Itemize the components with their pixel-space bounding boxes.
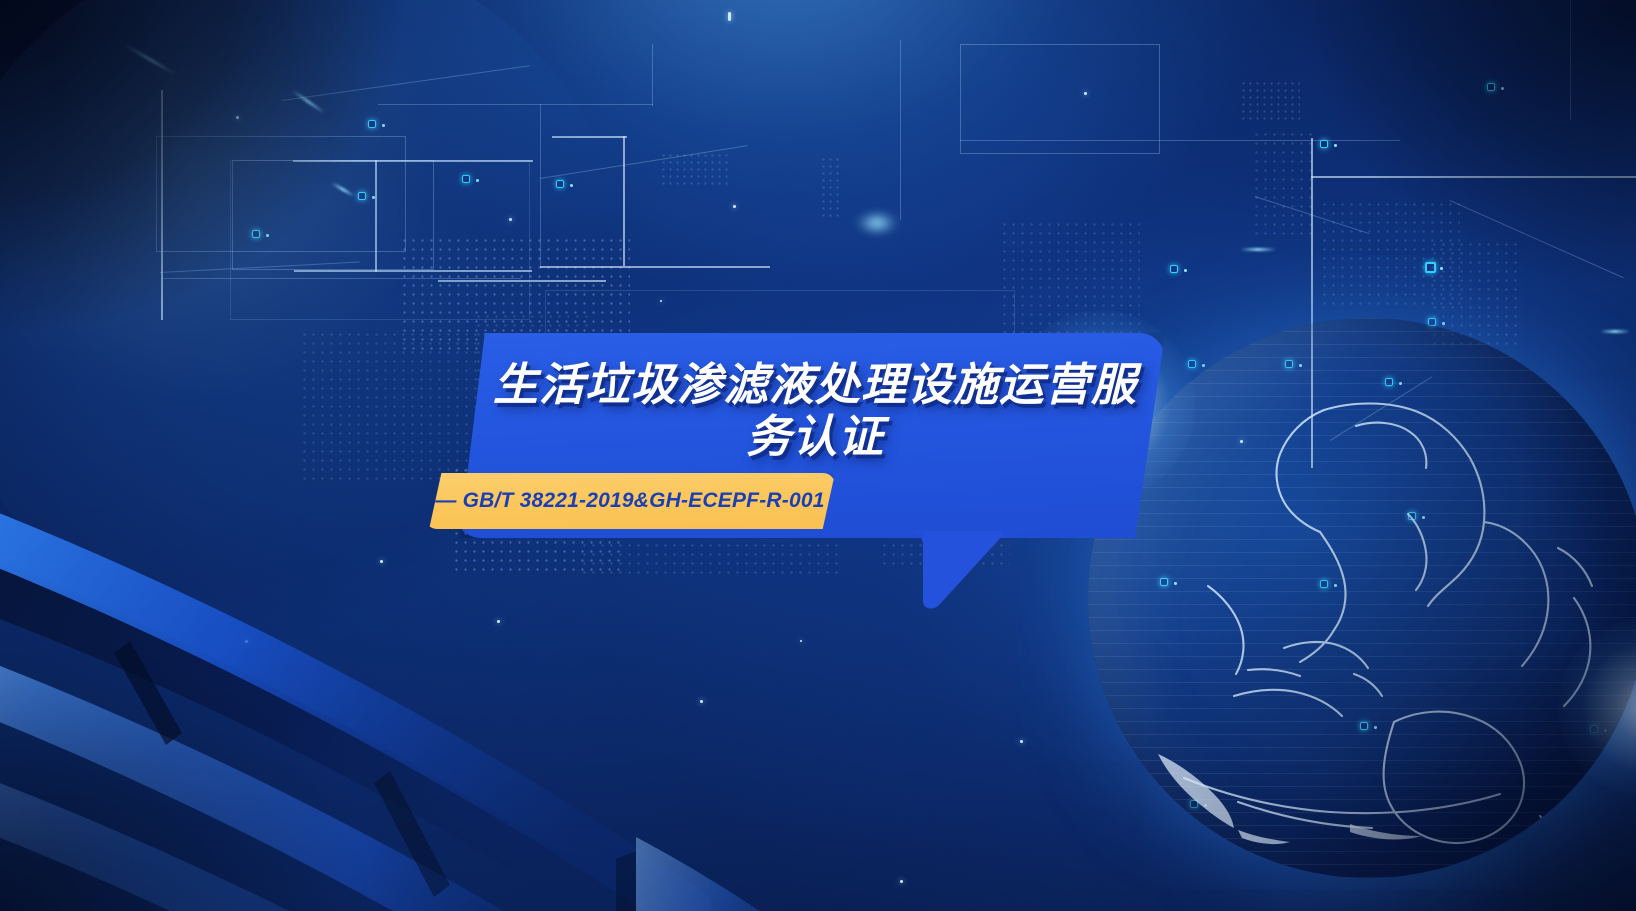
light-spark	[728, 12, 731, 21]
node-marker-icon	[1425, 262, 1436, 273]
wireframe-line	[960, 140, 1400, 141]
light-spark	[497, 620, 500, 623]
wireframe-line	[1570, 0, 1571, 120]
subtitle-text: — GB/T 38221-2019&GH-ECEPF-R-001	[425, 473, 835, 529]
ribbon-band	[0, 591, 720, 911]
light-spark	[700, 700, 703, 703]
wireframe-rect	[960, 44, 1160, 154]
light-spark	[1020, 740, 1023, 743]
node-marker-icon	[556, 180, 564, 188]
wireframe-line	[652, 44, 653, 106]
light-spark	[236, 116, 239, 119]
wireframe-line	[282, 65, 530, 101]
dot-matrix	[1252, 130, 1312, 240]
light-streak	[123, 43, 176, 76]
light-spark	[1084, 92, 1087, 95]
node-marker-icon	[368, 120, 376, 128]
node-marker-icon	[252, 230, 260, 238]
node-marker-icon	[358, 192, 366, 200]
light-spark	[245, 640, 248, 643]
ribbon-facet	[114, 641, 182, 745]
node-marker-icon	[462, 175, 470, 183]
ribbon-facet	[616, 851, 636, 911]
node-marker-icon	[1487, 83, 1495, 91]
light-spark	[900, 880, 903, 883]
light-spark	[380, 560, 383, 563]
light-streak	[856, 216, 898, 230]
light-streak	[291, 89, 325, 114]
wireframe-line	[378, 104, 653, 105]
light-spark	[660, 300, 662, 302]
wireframe-line	[900, 40, 901, 220]
callout-tail	[883, 531, 1013, 609]
wireframe-line	[293, 160, 533, 162]
title-callout: 生活垃圾渗滤液处理设施运营服 务认证 — GB/T 38221-2019&GH-…	[455, 333, 1175, 583]
light-streak	[1240, 248, 1276, 251]
dot-matrix	[660, 152, 728, 186]
light-spark	[733, 205, 736, 208]
node-marker-icon	[1320, 140, 1328, 148]
wireframe-line	[1311, 176, 1636, 178]
wireframe-line	[552, 136, 627, 138]
subtitle-banner: — GB/T 38221-2019&GH-ECEPF-R-001	[425, 473, 835, 529]
page-title: 生活垃圾渗滤液处理设施运营服 务认证	[479, 359, 1151, 463]
wireframe-line	[375, 160, 377, 272]
light-spark	[509, 218, 512, 221]
ribbon-band	[0, 709, 750, 911]
dot-matrix	[820, 156, 840, 218]
ribbon-band	[636, 837, 900, 911]
wireframe-line	[161, 90, 163, 320]
slide-canvas: 生活垃圾渗滤液处理设施运营服 务认证 — GB/T 38221-2019&GH-…	[0, 0, 1636, 911]
node-marker-icon	[1170, 265, 1178, 273]
ribbon-facet	[374, 771, 450, 897]
light-spark	[800, 640, 802, 642]
dot-matrix	[1240, 80, 1300, 120]
